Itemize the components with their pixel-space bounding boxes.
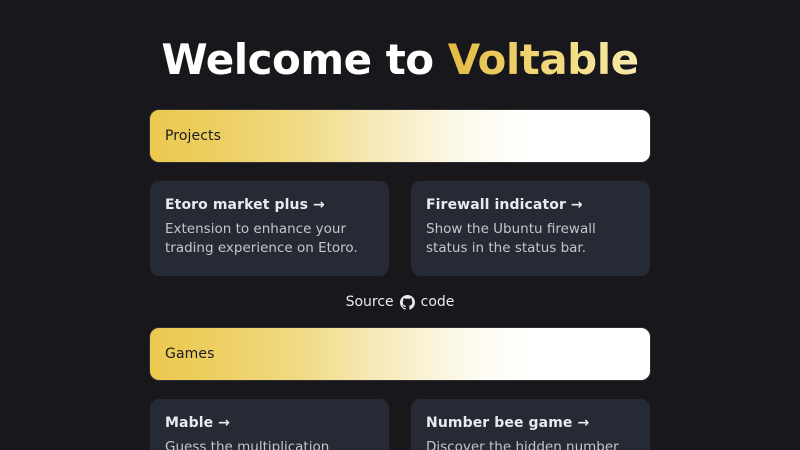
card-title: Etoro market plus →: [165, 197, 374, 213]
card-grid-games: Mable → Guess the multiplication game. N…: [150, 399, 650, 450]
page-root: Welcome to Voltable Projects Etoro marke…: [0, 0, 800, 450]
card-number-bee-game[interactable]: Number bee game → Discover the hidden nu…: [411, 399, 650, 450]
card-firewall-indicator[interactable]: Firewall indicator → Show the Ubuntu fir…: [411, 181, 650, 275]
card-title: Firewall indicator →: [426, 197, 635, 213]
page-title: Welcome to Voltable: [0, 0, 800, 84]
github-icon: [400, 295, 415, 310]
section-label: Games: [165, 346, 214, 362]
card-title: Mable →: [165, 415, 374, 431]
source-code-link[interactable]: Source code: [150, 294, 650, 310]
card-description: Discover the hidden number by: [426, 438, 635, 450]
card-title: Number bee game →: [426, 415, 635, 431]
card-etoro-market-plus[interactable]: Etoro market plus → Extension to enhance…: [150, 181, 389, 275]
section-banner-projects[interactable]: Projects: [150, 110, 650, 162]
section-label: Projects: [165, 128, 221, 144]
section-banner-games[interactable]: Games: [150, 328, 650, 380]
source-label-before: Source: [346, 294, 394, 310]
content-column: Projects Etoro market plus → Extension t…: [150, 110, 650, 450]
card-description: Show the Ubuntu firewall status in the s…: [426, 220, 635, 258]
source-label-after: code: [421, 294, 455, 310]
card-grid-projects: Etoro market plus → Extension to enhance…: [150, 181, 650, 275]
card-mable[interactable]: Mable → Guess the multiplication game.: [150, 399, 389, 450]
brand-name: Voltable: [448, 35, 639, 84]
page-title-prefix: Welcome to: [161, 35, 447, 84]
card-description: Guess the multiplication game.: [165, 438, 374, 450]
card-description: Extension to enhance your trading experi…: [165, 220, 374, 258]
